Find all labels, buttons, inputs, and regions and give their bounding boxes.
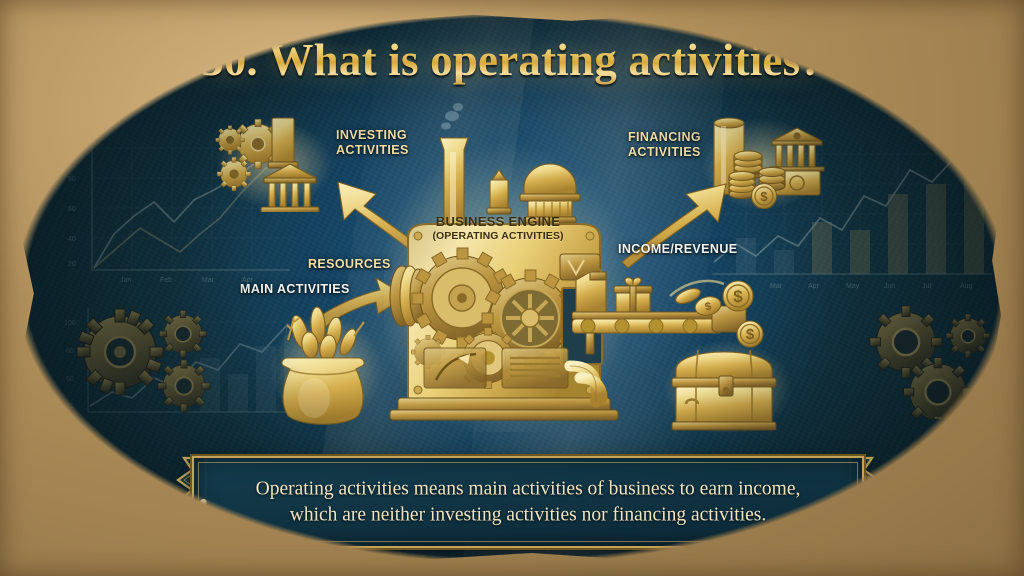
plaque-rivet bbox=[200, 499, 207, 506]
plaque-body: Operating activities means main activiti… bbox=[192, 456, 864, 548]
slide-canvas: 1008060 4020 JanFeb MarApr 10080604 bbox=[16, 12, 1008, 564]
plaque-rivet bbox=[849, 499, 856, 506]
caption-plaque: Operating activities means main activiti… bbox=[192, 456, 864, 548]
caption-line-2: which are neither investing activities n… bbox=[228, 502, 828, 528]
page-title: 30. What is operating activities? bbox=[16, 34, 1008, 86]
infographic-slide: 1008060 4020 JanFeb MarApr 10080604 bbox=[0, 0, 1024, 576]
caption-text: Operating activities means main activiti… bbox=[228, 476, 828, 527]
caption-line-1: Operating activities means main activiti… bbox=[228, 476, 828, 502]
